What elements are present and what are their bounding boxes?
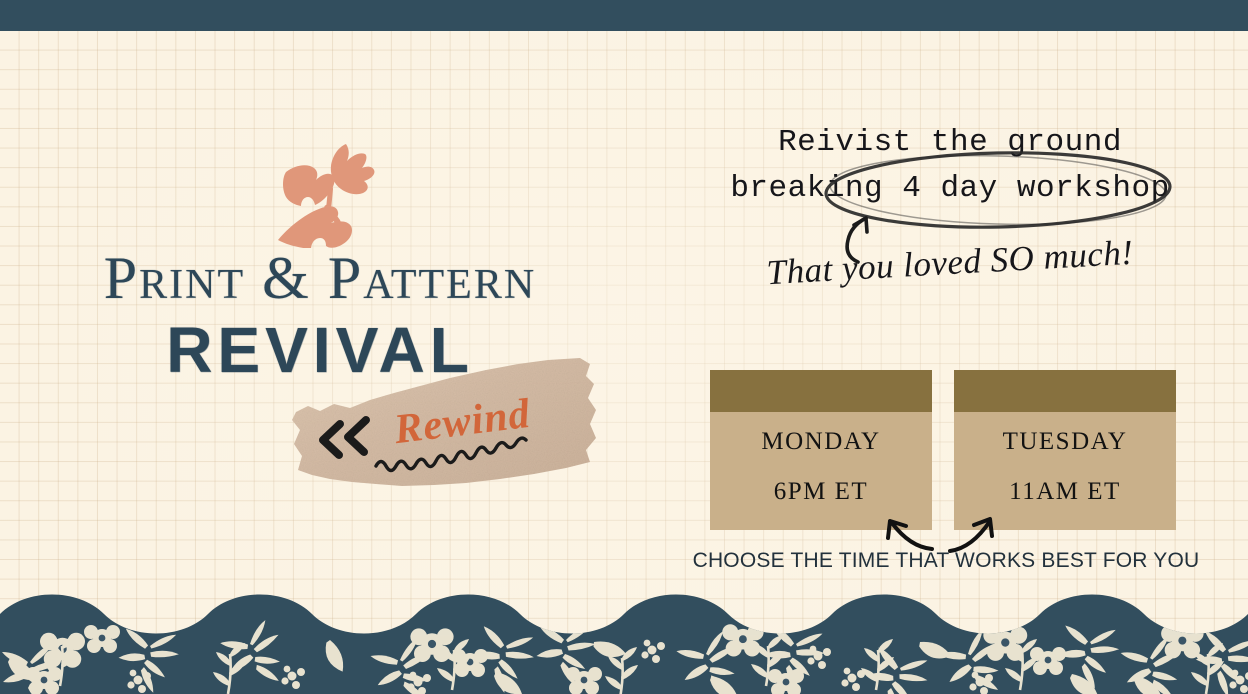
poster-canvas: Print & Pattern REVIVAL [0,0,1248,694]
session-card-tuesday[interactable]: TUESDAY 11AM ET [954,370,1176,530]
session-time: 11AM ET [1009,478,1121,506]
card-header-band [710,370,932,412]
tulip-flower-icon [268,128,408,248]
session-time: 6PM ET [774,478,868,506]
promo-headline: Reivist the ground breaking 4 day worksh… [690,120,1210,212]
washi-tape: Rewind [290,358,610,488]
top-navy-bar [0,0,1248,31]
session-card-monday[interactable]: MONDAY 6PM ET [710,370,932,530]
brand-block: Print & Pattern REVIVAL [0,110,640,510]
session-cards: MONDAY 6PM ET TUESDAY 11AM ET [710,370,1176,530]
promo-headline-line1: Reivist the ground [690,120,1210,166]
card-body: TUESDAY 11AM ET [954,412,1176,530]
promo-headline-line2: breaking 4 day workshop [690,166,1210,212]
session-day: TUESDAY [1003,428,1128,456]
card-body: MONDAY 6PM ET [710,412,932,530]
session-day: MONDAY [761,428,880,456]
page-title: Print & Pattern [0,248,640,308]
card-header-band [954,370,1176,412]
scalloped-floral-border [0,584,1248,694]
sessions-caption: CHOOSE THE TIME THAT WORKS BEST FOR YOU [690,549,1202,573]
